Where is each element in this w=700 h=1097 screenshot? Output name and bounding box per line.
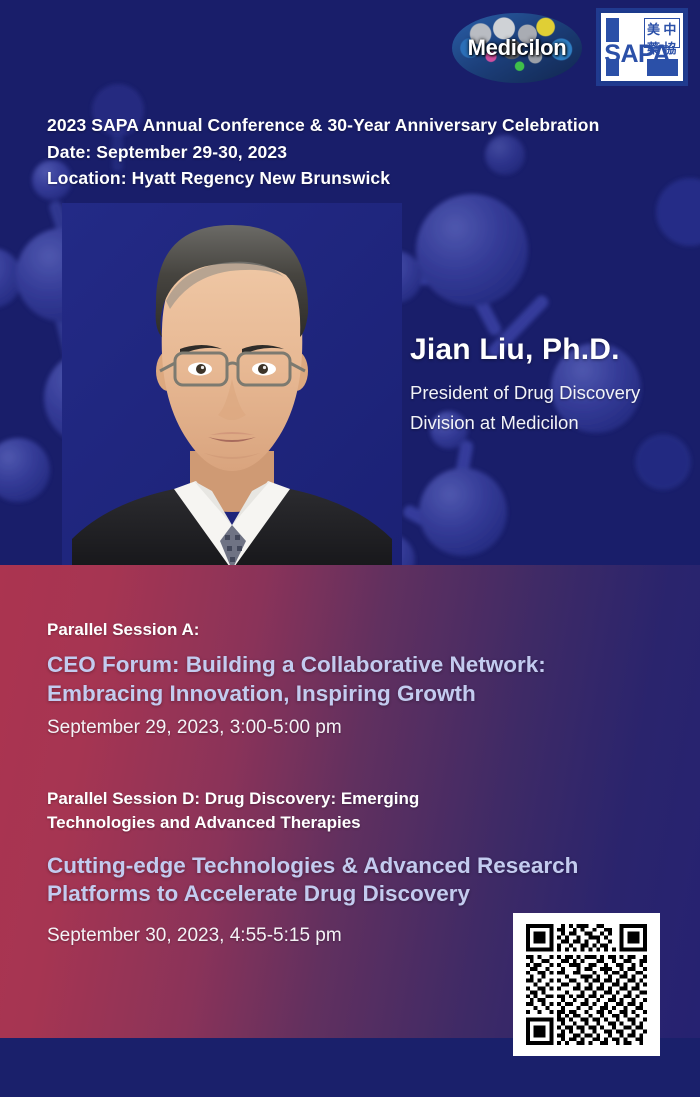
qr-code[interactable] (513, 913, 660, 1056)
session-block-a: Parallel Session A: CEO Forum: Building … (47, 618, 657, 741)
sapa-square-top-left (606, 18, 619, 41)
session-a-heading-line-1: CEO Forum: Building a Collaborative Netw… (47, 651, 657, 680)
logo-row: Medicilon 美 中 藥 協 SAPA (452, 8, 688, 86)
speaker-title-line-2: Division at Medicilon (410, 408, 640, 438)
speaker-title-line-1: President of Drug Discovery (410, 378, 640, 408)
session-d-kicker-line-2: Technologies and Advanced Therapies (47, 811, 657, 835)
sapa-cn-char-1: 美 (647, 19, 660, 38)
qr-code-icon (520, 920, 653, 1049)
conference-title: 2023 SAPA Annual Conference & 30-Year An… (47, 112, 599, 139)
session-a-heading-line-2: Embracing Innovation, Inspiring Growth (47, 680, 657, 709)
sessions-list: Parallel Session A: CEO Forum: Building … (47, 618, 657, 949)
medicilon-wordmark: Medicilon (452, 35, 582, 61)
conference-date: Date: September 29-30, 2023 (47, 139, 599, 166)
session-d-heading: Cutting-edge Technologies & Advanced Res… (47, 852, 657, 910)
session-a-heading: CEO Forum: Building a Collaborative Netw… (47, 651, 657, 709)
session-d-kicker: Parallel Session D: Drug Discovery: Emer… (47, 787, 657, 835)
medicilon-logo: Medicilon (452, 9, 582, 85)
conference-header: 2023 SAPA Annual Conference & 30-Year An… (47, 112, 599, 192)
speaker-info: Jian Liu, Ph.D. President of Drug Discov… (410, 333, 640, 438)
speaker-name: Jian Liu, Ph.D. (410, 333, 640, 367)
session-a-time: September 29, 2023, 3:00-5:00 pm (47, 715, 657, 741)
sapa-logo: 美 中 藥 協 SAPA (596, 8, 688, 86)
conference-location: Location: Hyatt Regency New Brunswick (47, 165, 599, 192)
session-d-heading-line-1: Cutting-edge Technologies & Advanced Res… (47, 852, 657, 881)
speaker-title: President of Drug Discovery Division at … (410, 378, 640, 438)
sapa-cn-char-2: 中 (663, 19, 676, 38)
session-d-kicker-line-1: Parallel Session D: Drug Discovery: Emer… (47, 787, 657, 811)
sapa-wordmark: SAPA (604, 42, 679, 67)
session-d-heading-line-2: Platforms to Accelerate Drug Discovery (47, 880, 657, 909)
conference-poster: Medicilon 美 中 藥 協 SAPA 2023 SAPA Annual … (0, 0, 700, 1097)
session-a-kicker: Parallel Session A: (47, 618, 657, 642)
speaker-portrait (62, 203, 402, 570)
